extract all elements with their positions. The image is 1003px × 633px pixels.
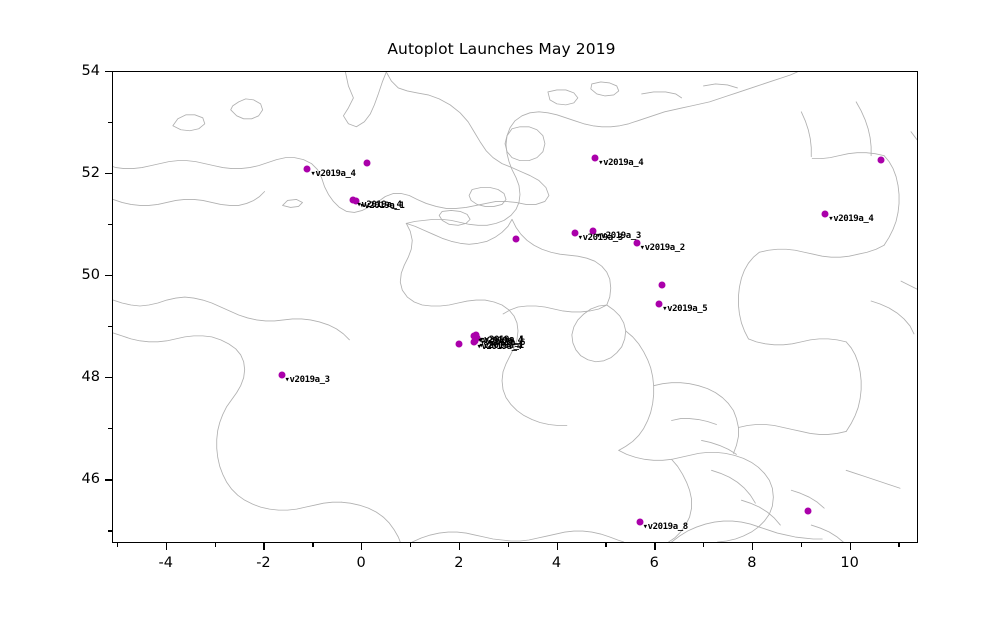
x-tick-minor [410,543,411,547]
x-tick-major [654,543,655,550]
y-tick-label: 50 [60,267,100,283]
scatter-point-label: ▾v2019a_3 [285,376,330,385]
y-tick-major [105,173,112,174]
y-tick-minor [108,530,112,531]
x-tick-label: -2 [256,555,270,571]
x-tick-major [557,543,558,550]
x-tick-minor [312,543,313,547]
scatter-point-label: ▾v2019a_8 [643,523,688,532]
x-tick-major [459,543,460,550]
map-plot-area[interactable]: ▾v2019a_4▾v2019a_4▾v2019a_1▾v2019a_4▾v20… [112,71,918,543]
x-tick-label: 10 [840,555,858,571]
scatter-point-label: ▾v2019a_1 [359,202,404,211]
x-tick-major [752,543,753,550]
y-tick-major [105,275,112,276]
scatter-point-label: ▾v2019a_4 [828,215,873,224]
y-tick-major [105,71,112,72]
scatter-point-label: ▾v2019a_3 [596,232,641,241]
scatter-point-label: ▾v2019a_4 [310,170,355,179]
scatter-labels-layer: ▾v2019a_4▾v2019a_4▾v2019a_1▾v2019a_4▾v20… [113,72,917,542]
x-tick-label: 4 [552,555,561,571]
x-tick-major [166,543,167,550]
x-tick-label: -4 [158,555,172,571]
scatter-point-label: ▾v2019a_2 [640,244,685,253]
figure-canvas: Autoplot Launches May 2019 [0,0,1003,633]
y-tick-label: 52 [60,165,100,181]
y-tick-label: 54 [60,63,100,79]
y-tick-minor [108,428,112,429]
x-tick-label: 2 [454,555,463,571]
page-title: Autoplot Launches May 2019 [0,40,1003,58]
y-tick-major [105,377,112,378]
x-tick-label: 6 [650,555,659,571]
y-tick-label: 48 [60,369,100,385]
x-tick-minor [215,543,216,547]
x-tick-label: 8 [747,555,756,571]
y-tick-minor [108,122,112,123]
x-tick-minor [703,543,704,547]
x-tick-major [850,543,851,550]
x-tick-minor [605,543,606,547]
scatter-point-label: ▾v2019a_4 [598,159,643,168]
y-tick-minor [108,326,112,327]
y-tick-major [105,479,112,480]
x-tick-minor [508,543,509,547]
scatter-point-label: ▾v2019a_5 [662,305,707,314]
x-tick-label: 0 [357,555,366,571]
x-tick-major [263,543,264,550]
x-tick-major [361,543,362,550]
scatter-point-label: ▾v2019a_4 [477,343,522,352]
x-tick-minor [801,543,802,547]
y-tick-label: 46 [60,471,100,487]
x-tick-minor [117,543,118,547]
x-tick-minor [898,543,899,547]
y-tick-minor [108,224,112,225]
